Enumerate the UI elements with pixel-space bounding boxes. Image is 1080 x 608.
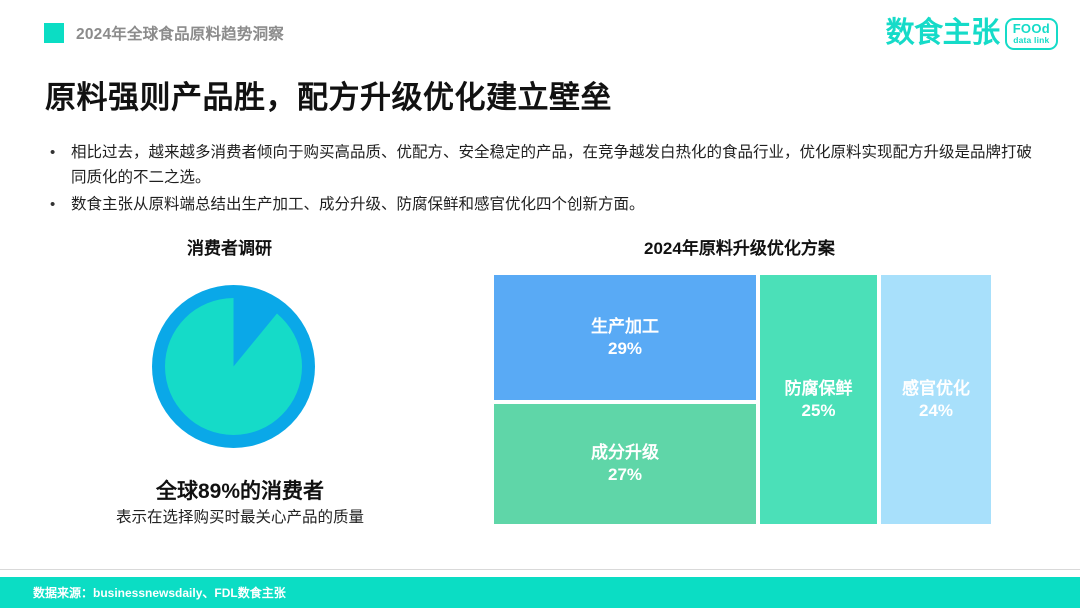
bullet-list: • 相比过去，越来越多消费者倾向于购买高品质、优配方、安全稳定的产品，在竞争越发… xyxy=(50,140,1035,219)
treemap-cell-label: 成分升级 xyxy=(591,442,659,464)
header-marker-icon xyxy=(44,23,64,43)
treemap-cell-value: 27% xyxy=(608,464,642,486)
list-item: • 数食主张从原料端总结出生产加工、成分升级、防腐保鲜和感官优化四个创新方面。 xyxy=(50,192,1035,217)
treemap-cell-label: 防腐保鲜 xyxy=(785,378,853,400)
consumer-survey-pie-chart xyxy=(152,285,315,448)
footer-source-text: 数据来源：businessnewsdaily、FDL数食主张 xyxy=(33,584,286,601)
treemap-cell-sensory: 感官优化 24% xyxy=(881,275,991,524)
treemap-cell-ingredient: 成分升级 27% xyxy=(494,404,756,524)
bullet-text: 相比过去，越来越多消费者倾向于购买高品质、优配方、安全稳定的产品，在竞争越发白热… xyxy=(71,140,1035,190)
treemap-cell-value: 25% xyxy=(801,400,835,422)
treemap-cell-value: 29% xyxy=(608,338,642,360)
pie-headline-text: 全球89%的消费者 xyxy=(0,475,480,505)
treemap-cell-production: 生产加工 29% xyxy=(494,275,756,400)
pie-subtext: 表示在选择购买时最关心产品的质量 xyxy=(0,505,480,527)
brand-name-text: 数食主张 xyxy=(886,19,1000,48)
slide-header: 2024年全球食品原料趋势洞察 xyxy=(44,22,284,44)
treemap-cell-value: 24% xyxy=(919,400,953,422)
right-section-title: 2024年原料升级优化方案 xyxy=(644,234,835,259)
upgrade-plan-treemap: 生产加工 29% 成分升级 27% 防腐保鲜 25% 感官优化 24% xyxy=(494,275,991,524)
list-item: • 相比过去，越来越多消费者倾向于购买高品质、优配方、安全稳定的产品，在竞争越发… xyxy=(50,140,1035,190)
brand-badge-bottom-text: data link xyxy=(1013,36,1049,45)
bullet-text: 数食主张从原料端总结出生产加工、成分升级、防腐保鲜和感官优化四个创新方面。 xyxy=(71,192,645,217)
bullet-dot-icon: • xyxy=(50,192,58,217)
brand-badge: FOOd data link xyxy=(1005,18,1058,50)
pie-slice-89-percent xyxy=(165,298,302,435)
page-title: 原料强则产品胜，配方升级优化建立壁垒 xyxy=(45,72,612,117)
bullet-dot-icon: • xyxy=(50,140,58,165)
treemap-cell-preservation: 防腐保鲜 25% xyxy=(760,275,877,524)
brand-badge-top-text: FOOd xyxy=(1013,22,1050,35)
treemap-cell-label: 生产加工 xyxy=(591,316,659,338)
header-eyebrow-text: 2024年全球食品原料趋势洞察 xyxy=(76,22,284,44)
footer-divider xyxy=(0,569,1080,570)
treemap-cell-label: 感官优化 xyxy=(902,378,970,400)
brand-logo: 数食主张 FOOd data link xyxy=(886,18,1058,50)
left-section-title: 消费者调研 xyxy=(187,234,272,259)
